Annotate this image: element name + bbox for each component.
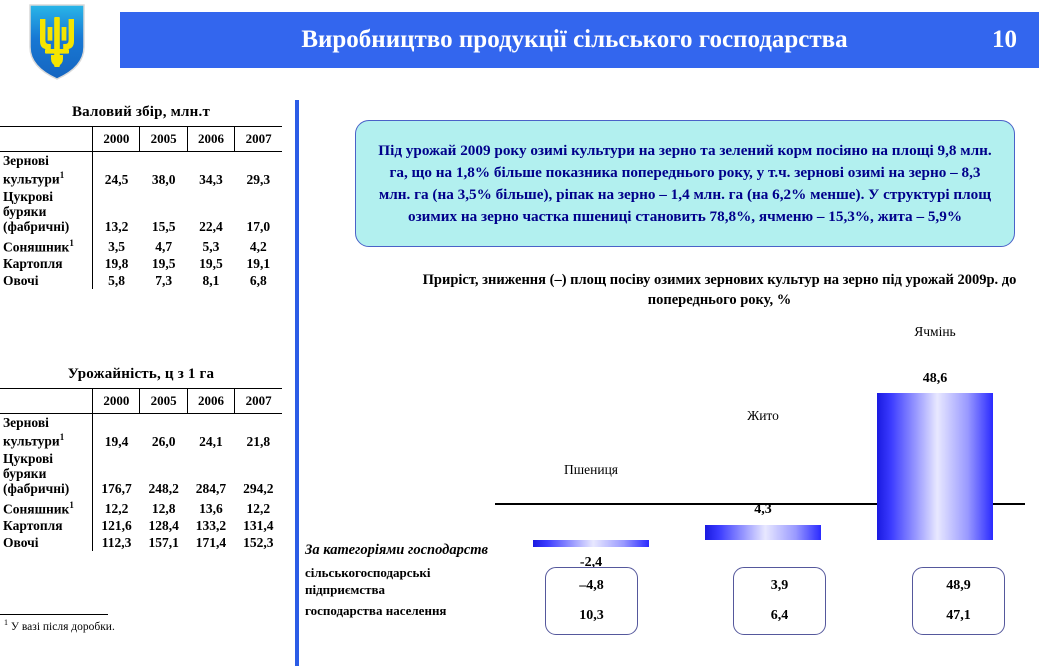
footnote-body: У вазі після доробки.: [8, 621, 115, 633]
bar-group-barley: Ячмінь 48,6: [859, 362, 1011, 540]
yield-table: 2000 2005 2006 2007 Зернові культури1 19…: [0, 388, 282, 551]
value-households: 10,3: [579, 601, 604, 631]
row-label: Зернові культури1: [0, 414, 93, 450]
table-cell: 13,2: [93, 188, 140, 235]
category-label-enterprises: сільськогосподарські підприємства: [305, 564, 490, 598]
table-row: Цукрові буряки (фабричні) 176,7 248,2 28…: [0, 450, 282, 497]
table-cell: 34,3: [187, 152, 234, 188]
table-cell: 176,7: [93, 450, 140, 497]
table-cell: 152,3: [235, 534, 282, 551]
table-cell: 22,4: [187, 188, 234, 235]
footnote: 1 У вазі після доробки.: [0, 614, 282, 633]
bar-value-label: 4,3: [687, 502, 839, 518]
table-cell: 248,2: [140, 450, 187, 497]
summary-callout-box: Під урожай 2009 року озимі культури на з…: [355, 120, 1015, 247]
ukraine-coat-of-arms-icon: [27, 3, 87, 81]
table-cell: 12,2: [235, 497, 282, 518]
panel-divider: [295, 100, 299, 666]
table-cell: 13,6: [187, 497, 234, 518]
table-cell: 4,7: [140, 235, 187, 256]
value-households: 47,1: [946, 601, 971, 631]
row-label-text: Цукрові буряки (фабричні): [3, 451, 69, 496]
table-cell: 8,1: [187, 272, 234, 289]
row-label-text: Картопля: [3, 256, 63, 271]
table-header-cell: 2005: [140, 127, 187, 152]
row-label: Овочі: [0, 272, 93, 289]
category-label-households: господарства населення: [305, 602, 490, 619]
bar-category-label: Жито: [687, 408, 839, 424]
row-label: Цукрові буряки (фабричні): [0, 450, 93, 497]
row-label: Картопля: [0, 517, 93, 534]
table-cell: 19,5: [140, 255, 187, 272]
table-cell: 121,6: [93, 517, 140, 534]
header-bar: Виробництво продукції сільського господа…: [120, 12, 1039, 68]
summary-callout-text: Під урожай 2009 року озимі культури на з…: [356, 140, 1014, 228]
page-title: Виробництво продукції сільського господа…: [220, 12, 929, 68]
table-cell: 131,4: [235, 517, 282, 534]
table-cell: 157,1: [140, 534, 187, 551]
table-header-cell: 2000: [93, 389, 140, 414]
table-cell: 4,2: [235, 235, 282, 256]
table-cell: 128,4: [140, 517, 187, 534]
table-header-row: 2000 2005 2006 2007: [0, 127, 282, 152]
table-cell: 12,8: [140, 497, 187, 518]
table-row: Цукрові буряки (фабричні) 13,2 15,5 22,4…: [0, 188, 282, 235]
table-cell: 24,5: [93, 152, 140, 188]
bar-wheat: [533, 540, 649, 547]
row-label: Зернові культури1: [0, 152, 93, 188]
table-row: Соняшник1 12,2 12,8 13,6 12,2: [0, 497, 282, 518]
table-header-cell: 2007: [235, 127, 282, 152]
value-box-rye: 3,9 6,4: [733, 567, 826, 635]
table-row: Овочі 112,3 157,1 171,4 152,3: [0, 534, 282, 551]
table-cell: 19,5: [187, 255, 234, 272]
table-header-cell: [0, 389, 93, 414]
value-box-wheat: –4,8 10,3: [545, 567, 638, 635]
categories-heading: За категоріями господарств: [305, 541, 490, 560]
table-cell: 38,0: [140, 152, 187, 188]
table-header-cell: 2006: [187, 127, 234, 152]
table-header-cell: 2007: [235, 389, 282, 414]
gross-harvest-table: 2000 2005 2006 2007 Зернові культури1 24…: [0, 126, 282, 289]
chart-title: Приріст, зниження (–) площ посіву озимих…: [400, 270, 1039, 310]
table-row: Картопля 19,8 19,5 19,5 19,1: [0, 255, 282, 272]
bar-group-rye: Жито 4,3: [687, 362, 839, 540]
table-cell: 15,5: [140, 188, 187, 235]
table-row: Картопля 121,6 128,4 133,2 131,4: [0, 517, 282, 534]
table-header-cell: 2005: [140, 389, 187, 414]
footnote-marker: 1: [69, 238, 74, 248]
table-caption: Урожайність, ц з 1 га: [0, 366, 282, 388]
table-row: Овочі 5,8 7,3 8,1 6,8: [0, 272, 282, 289]
footnote-marker: 1: [60, 432, 65, 442]
table-cell: 17,0: [235, 188, 282, 235]
table-cell: 112,3: [93, 534, 140, 551]
table-cell: 29,3: [235, 152, 282, 188]
page-number: 10: [992, 12, 1017, 68]
table-cell: 3,5: [93, 235, 140, 256]
gross-harvest-table-block: Валовий збір, млн.т 2000 2005 2006 2007 …: [0, 104, 282, 289]
footnote-text: 1 У вазі після доробки.: [0, 618, 282, 633]
bar-rye: [705, 525, 821, 540]
row-label: Соняшник1: [0, 497, 93, 518]
bar-category-label: Ячмінь: [859, 324, 1011, 340]
table-header-cell: [0, 127, 93, 152]
table-cell: 26,0: [140, 414, 187, 450]
table-caption: Валовий збір, млн.т: [0, 104, 282, 126]
value-box-barley: 48,9 47,1: [912, 567, 1005, 635]
table-cell: 12,2: [93, 497, 140, 518]
table-cell: 133,2: [187, 517, 234, 534]
table-cell: 5,3: [187, 235, 234, 256]
yield-table-block: Урожайність, ц з 1 га 2000 2005 2006 200…: [0, 366, 282, 551]
table-cell: 24,1: [187, 414, 234, 450]
table-cell: 7,3: [140, 272, 187, 289]
row-label-text: Зернові культури: [3, 415, 60, 449]
table-cell: 19,4: [93, 414, 140, 450]
row-label-text: Овочі: [3, 535, 38, 550]
categories-legend: За категоріями господарств сільськогоспо…: [305, 541, 490, 619]
table-cell: 294,2: [235, 450, 282, 497]
bar-category-label: Пшениця: [515, 462, 667, 478]
table-row: Соняшник1 3,5 4,7 5,3 4,2: [0, 235, 282, 256]
table-cell: 19,1: [235, 255, 282, 272]
value-enterprises: –4,8: [579, 571, 604, 601]
row-label: Овочі: [0, 534, 93, 551]
row-label-text: Зернові культури: [3, 153, 60, 187]
value-households: 6,4: [771, 601, 789, 631]
bar-value-label: 48,6: [859, 371, 1011, 387]
table-cell: 171,4: [187, 534, 234, 551]
row-label: Цукрові буряки (фабричні): [0, 188, 93, 235]
table-cell: 21,8: [235, 414, 282, 450]
footnote-marker: 1: [60, 170, 65, 180]
row-label-text: Картопля: [3, 518, 63, 533]
row-label-text: Соняшник: [3, 239, 69, 254]
table-cell: 6,8: [235, 272, 282, 289]
footnote-divider: [0, 614, 108, 615]
table-header-row: 2000 2005 2006 2007: [0, 389, 282, 414]
row-label: Соняшник1: [0, 235, 93, 256]
table-cell: 19,8: [93, 255, 140, 272]
footnote-marker: 1: [69, 500, 74, 510]
table-row: Зернові культури1 19,4 26,0 24,1 21,8: [0, 414, 282, 450]
bar-barley: [877, 393, 993, 540]
row-label: Картопля: [0, 255, 93, 272]
table-row: Зернові культури1 24,5 38,0 34,3 29,3: [0, 152, 282, 188]
row-label-text: Овочі: [3, 273, 38, 288]
table-cell: 5,8: [93, 272, 140, 289]
row-label-text: Соняшник: [3, 501, 69, 516]
value-enterprises: 3,9: [771, 571, 789, 601]
value-enterprises: 48,9: [946, 571, 971, 601]
table-header-cell: 2006: [187, 389, 234, 414]
table-header-cell: 2000: [93, 127, 140, 152]
bar-group-wheat: Пшениця -2,4: [515, 362, 667, 540]
bar-chart: Пшениця -2,4 Жито 4,3 Ячмінь 48,6: [495, 325, 1025, 540]
table-cell: 284,7: [187, 450, 234, 497]
row-label-text: Цукрові буряки (фабричні): [3, 189, 69, 234]
